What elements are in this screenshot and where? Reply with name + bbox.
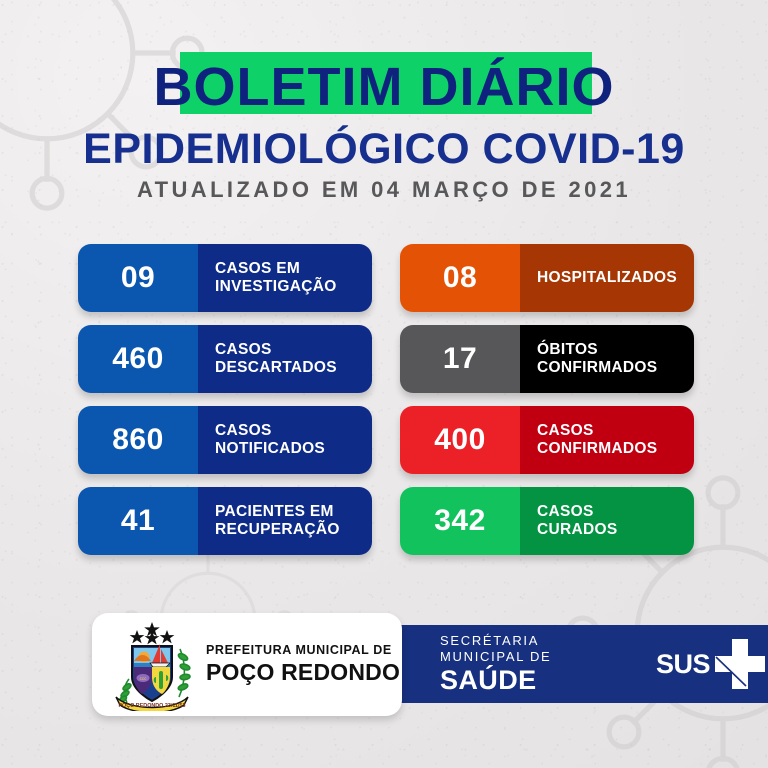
stat-label-line2: CONFIRMADOS bbox=[537, 440, 694, 459]
secretaria-line1: SECRÉTARIA MUNICIPAL DE bbox=[440, 633, 620, 665]
svg-text:ccc: ccc bbox=[140, 676, 148, 681]
stat-label-line1: CASOS bbox=[537, 422, 694, 441]
stat-card-obitos-confirmados[interactable]: 17 ÓBITOS CONFIRMADOS bbox=[400, 325, 694, 393]
stat-label: CASOS CURADOS bbox=[520, 487, 694, 555]
stat-label-line2: INVESTIGAÇÃO bbox=[215, 278, 372, 297]
stat-label-line2: RECUPERAÇÃO bbox=[215, 521, 372, 540]
prefeitura-panel: ccc POÇO REDONDO 23/11/53 PREFEITURA MUN… bbox=[92, 613, 402, 716]
stat-label: ÓBITOS CONFIRMADOS bbox=[520, 325, 694, 393]
stat-value: 41 bbox=[78, 487, 198, 555]
stat-label: PACIENTES EM RECUPERAÇÃO bbox=[198, 487, 372, 555]
stat-value: 400 bbox=[400, 406, 520, 474]
page-subtitle: EPIDEMIOLÓGICO COVID-19 bbox=[0, 124, 768, 174]
sus-cross-icon bbox=[712, 636, 768, 692]
stat-value: 08 bbox=[400, 244, 520, 312]
stat-label-line1: PACIENTES EM bbox=[215, 503, 372, 522]
stat-label: HOSPITALIZADOS bbox=[520, 244, 694, 312]
stat-label-line1: CASOS bbox=[215, 422, 372, 441]
stat-card-casos-notificados[interactable]: 860 CASOS NOTIFICADOS bbox=[78, 406, 372, 474]
stat-card-casos-descartados[interactable]: 460 CASOS DESCARTADOS bbox=[78, 325, 372, 393]
prefeitura-line2: POÇO REDONDO bbox=[206, 659, 400, 686]
stat-label: CASOS EM INVESTIGAÇÃO bbox=[198, 244, 372, 312]
brasao-ribbon-text: POÇO REDONDO 23/11/53 bbox=[118, 703, 185, 709]
prefeitura-coat-of-arms-icon: ccc POÇO REDONDO 23/11/53 bbox=[110, 619, 194, 711]
stat-card-casos-confirmados[interactable]: 400 CASOS CONFIRMADOS bbox=[400, 406, 694, 474]
stat-value: 17 bbox=[400, 325, 520, 393]
stat-card-hospitalizados[interactable]: 08 HOSPITALIZADOS bbox=[400, 244, 694, 312]
stat-value: 860 bbox=[78, 406, 198, 474]
stat-label-line1: HOSPITALIZADOS bbox=[537, 269, 694, 288]
stat-label-line2: CONFIRMADOS bbox=[537, 359, 694, 378]
stat-label: CASOS DESCARTADOS bbox=[198, 325, 372, 393]
stat-label: CASOS NOTIFICADOS bbox=[198, 406, 372, 474]
stat-label-line1: CASOS bbox=[215, 341, 372, 360]
stat-label: CASOS CONFIRMADOS bbox=[520, 406, 694, 474]
page-title: BOLETIM DIÁRIO bbox=[0, 56, 768, 118]
stat-card-casos-curados[interactable]: 342 CASOS CURADOS bbox=[400, 487, 694, 555]
stat-value: 342 bbox=[400, 487, 520, 555]
stat-value: 09 bbox=[78, 244, 198, 312]
stat-card-pacientes-em-recuperacao[interactable]: 41 PACIENTES EM RECUPERAÇÃO bbox=[78, 487, 372, 555]
stat-label-line2: NOTIFICADOS bbox=[215, 440, 372, 459]
poster-canvas: BOLETIM DIÁRIO EPIDEMIOLÓGICO COVID-19 A… bbox=[0, 0, 768, 768]
update-date: ATUALIZADO EM 04 MARÇO DE 2021 bbox=[0, 176, 768, 204]
stat-label-line1: ÓBITOS bbox=[537, 341, 694, 360]
secretaria-line2: SAÚDE bbox=[440, 665, 620, 696]
stat-value: 460 bbox=[78, 325, 198, 393]
prefeitura-text-block: PREFEITURA MUNICIPAL DE POÇO REDONDO bbox=[206, 643, 400, 686]
sus-logo: SUS bbox=[656, 636, 768, 692]
stat-label-line2: DESCARTADOS bbox=[215, 359, 372, 378]
sus-wordmark: SUS bbox=[656, 649, 710, 680]
stat-card-casos-em-investigacao[interactable]: 09 CASOS EM INVESTIGAÇÃO bbox=[78, 244, 372, 312]
prefeitura-line1: PREFEITURA MUNICIPAL DE bbox=[206, 643, 400, 658]
secretaria-text-block: SECRÉTARIA MUNICIPAL DE SAÚDE bbox=[440, 633, 620, 696]
stat-label-line1: CASOS bbox=[537, 503, 694, 522]
stat-label-line1: CASOS EM bbox=[215, 260, 372, 279]
stat-label-line2: CURADOS bbox=[537, 521, 694, 540]
